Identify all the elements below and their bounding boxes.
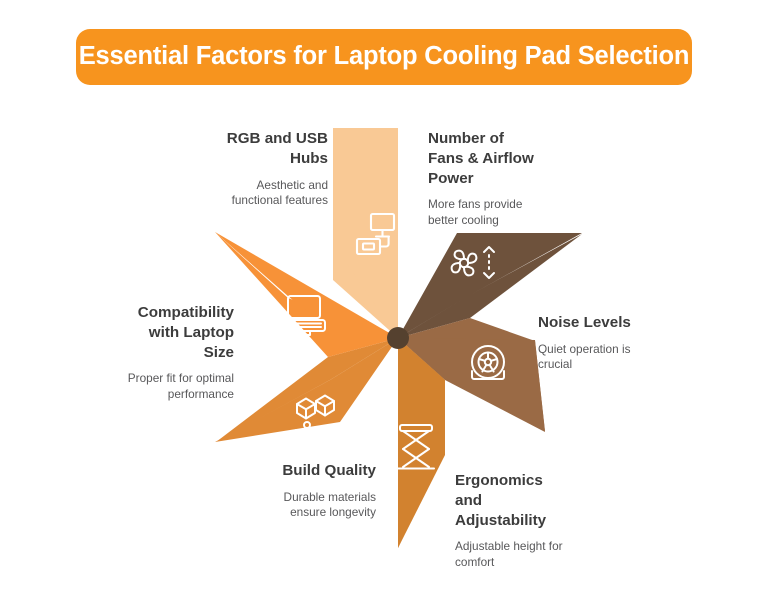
infographic-page: Essential Factors for Laptop Cooling Pad… (0, 0, 768, 593)
callout-rgb-usb-hubs[interactable]: RGB and USB Hubs Aesthetic and functiona… (196, 129, 328, 209)
callout-ergonomics-adjustability[interactable]: Ergonomics and Adjustability Adjustable … (455, 471, 600, 571)
callout-build-quality[interactable]: Build Quality Durable materials ensure l… (240, 461, 376, 521)
segment-build-quality[interactable] (215, 338, 398, 442)
callout-description: Proper fit for optimal performance (110, 371, 234, 402)
callout-title: Number of Fans & Airflow Power (428, 129, 573, 188)
callout-description: More fans provide better cooling (428, 197, 573, 228)
callout-title: Noise Levels (538, 313, 688, 333)
callout-description: Durable materials ensure longevity (240, 490, 376, 521)
callout-description: Aesthetic and functional features (196, 178, 328, 209)
callout-compatibility-laptop-size[interactable]: Compatibility with Laptop Size Proper fi… (110, 303, 234, 403)
callout-title: Compatibility with Laptop Size (110, 303, 234, 362)
pinwheel-diagram (0, 0, 768, 593)
callout-number-of-fans[interactable]: Number of Fans & Airflow Power More fans… (428, 129, 573, 229)
callout-title: Build Quality (240, 461, 376, 481)
pinwheel-center-hub (387, 327, 409, 349)
callout-title: Ergonomics and Adjustability (455, 471, 600, 530)
callout-title: RGB and USB Hubs (196, 129, 328, 169)
callout-description: Quiet operation is crucial (538, 342, 688, 373)
callout-description: Adjustable height for comfort (455, 539, 600, 570)
callout-noise-levels[interactable]: Noise Levels Quiet operation is crucial (538, 313, 688, 373)
